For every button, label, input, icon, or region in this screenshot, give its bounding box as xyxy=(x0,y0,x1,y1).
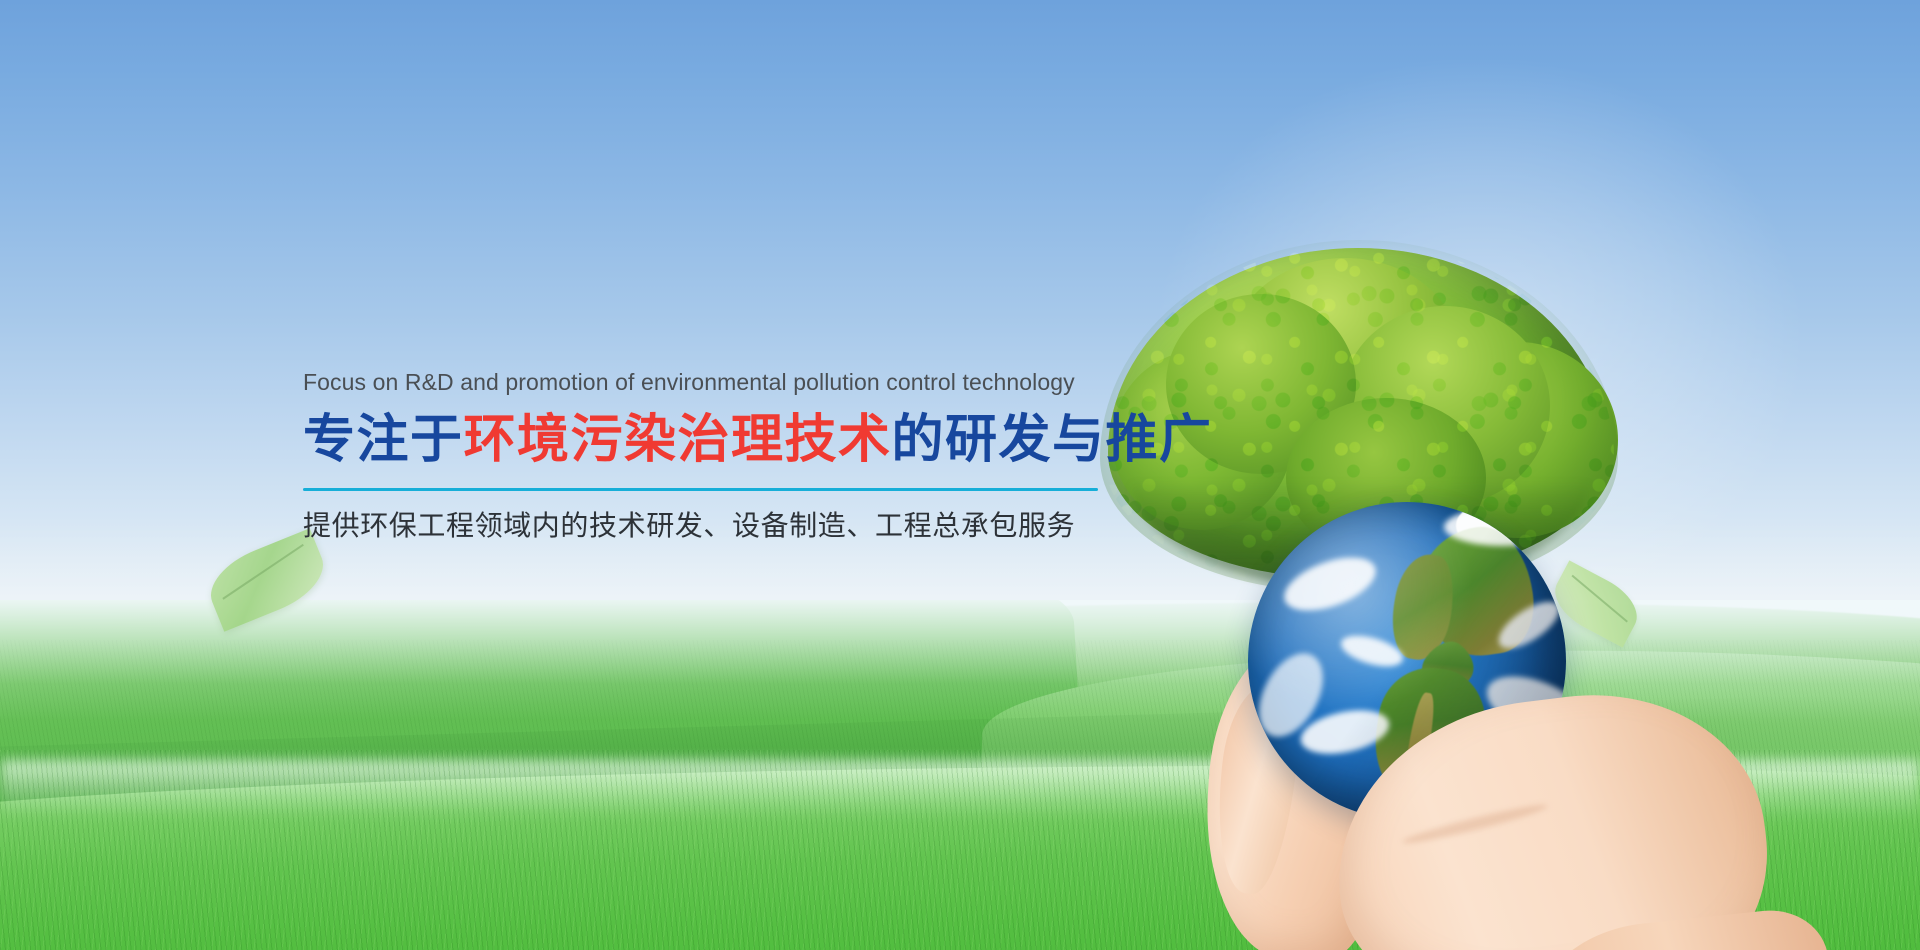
banner-english-tagline: Focus on R&D and promotion of environmen… xyxy=(303,368,1103,397)
divider-rule xyxy=(303,488,1098,491)
banner-headline: 专注于环境污染治理技术的研发与推广 xyxy=(303,411,1103,470)
headline-part-2-highlight: 环境污染治理技术 xyxy=(464,411,892,469)
headline-part-3: 的研发与推广 xyxy=(892,411,1213,469)
hero-banner: Focus on R&D and promotion of environmen… xyxy=(0,0,1920,950)
banner-subtitle: 提供环保工程领域内的技术研发、设备制造、工程总承包服务 xyxy=(303,508,1103,544)
tree-globe-hands-illustration xyxy=(1100,230,1620,950)
headline-part-1: 专注于 xyxy=(303,411,464,469)
banner-copy: Focus on R&D and promotion of environmen… xyxy=(303,368,1103,544)
